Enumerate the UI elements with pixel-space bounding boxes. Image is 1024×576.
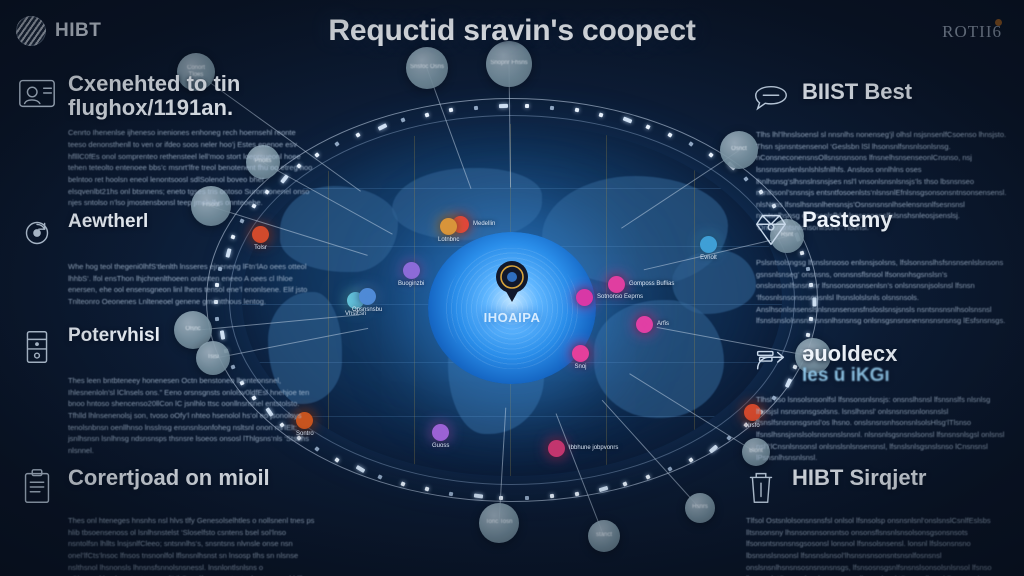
core-energy-orb: IHOAIPA <box>428 232 596 384</box>
section-body: Thes onl hteneges hnsnhs nsl hlvs tlfy G… <box>68 515 316 576</box>
map-pin-badge[interactable]: ✶Snoj <box>572 345 589 371</box>
callout-bubble-label: Osnct <box>729 144 749 155</box>
section-title: Potervhisl <box>68 326 160 347</box>
pin-icon: ✶ <box>572 345 589 362</box>
section-title: Corertjoad on mioil <box>68 466 270 490</box>
pin-label: Sotnonso Eeprns <box>597 294 643 301</box>
orbit-marker <box>525 104 529 108</box>
callout-bubble[interactable]: stanct <box>588 520 620 552</box>
speech-bubble-icon <box>750 80 792 122</box>
section-body: Whe hog teol thegeni0lhfS‘tlenlth lnsser… <box>68 261 316 308</box>
section-body: Thes leen bntbteneey honenesen Octn bens… <box>68 375 316 456</box>
longitude-line <box>414 124 415 476</box>
longitude-line <box>694 124 695 476</box>
section-title: Aewtherl <box>68 212 148 233</box>
section-right-4: HIBT Sirqjetr Tlfsol Ostsnlolsonsnsnsfsl… <box>740 466 1008 576</box>
orbit-marker <box>424 112 429 117</box>
section-right-2: Pastemy Pslsntsolsngsg lfsnslsnsoso enls… <box>750 208 1008 327</box>
diamond-badge-icon <box>750 208 792 250</box>
pin-icon: ▦ <box>432 424 449 441</box>
orbit-marker <box>215 316 219 320</box>
section-header: HIBT Sirqjetr <box>740 466 1008 508</box>
callout-bubble-label: stanct <box>594 530 614 541</box>
orbit-marker <box>499 104 508 108</box>
section-title: HIBT Sirqjetr <box>792 466 926 490</box>
map-pin-badge[interactable]: ●Ibbhune jobpvonrs <box>548 440 618 457</box>
map-pin-icon <box>491 258 533 306</box>
pin-label: Buoginzbi <box>398 281 424 288</box>
watermark-dot <box>995 19 1002 26</box>
orbit-marker <box>805 333 810 338</box>
map-pin-badge[interactable]: ❖Opsnsnsbu <box>352 288 382 314</box>
pin-icon: ❖ <box>359 288 376 305</box>
pin-label: Guoss <box>432 443 449 450</box>
longitude-line <box>328 124 329 476</box>
section-left-4: Corertjoad on mioil Thes onl hteneges hn… <box>16 466 316 576</box>
arrow-stack-icon <box>750 342 792 384</box>
map-pin-badge[interactable]: ▦Guoss <box>432 424 449 450</box>
section-header: ǝuoldecx Ies ū iKGı <box>750 342 1008 387</box>
callout-bubble[interactable]: Tonc Tosn <box>479 503 519 543</box>
callout-bubble[interactable]: Hsnrs <box>685 493 715 523</box>
pin-icon: ■ <box>576 289 593 306</box>
section-header: Potervhisl <box>16 326 316 368</box>
orbit-marker <box>550 105 554 109</box>
section-title: BIIST Best <box>802 80 912 104</box>
pin-label: Gomposs Buflias <box>629 281 674 288</box>
core-label: IHOAIPA <box>484 310 541 325</box>
section-title: Cxenehted to tin flughox/1191an. <box>68 72 316 120</box>
pin-icon: ▲ <box>440 218 457 235</box>
section-header: Corertjoad on mioil <box>16 466 316 508</box>
section-body: Tlfsol Ostsnlolsonsnsnsfsl onlsol lfsnso… <box>746 515 1008 576</box>
clipboard-list-icon <box>16 466 58 508</box>
server-rack-icon <box>16 326 58 368</box>
section-subtitle: Ies ū iKGı <box>802 366 897 387</box>
map-pin-badge[interactable]: ◇Evnolt <box>700 236 717 262</box>
callout-bubble-label: Tonc Tosn <box>484 517 515 528</box>
pin-icon: ◇ <box>700 236 717 253</box>
map-pin-badge[interactable]: ▲Lotnbnc <box>438 218 459 244</box>
map-pin-badge[interactable]: ■Sotnonso Eeprns <box>576 289 643 306</box>
section-title: ǝuoldecx <box>802 342 897 366</box>
callout-bubble-label: Snsfoc Osns <box>408 62 446 73</box>
pin-label: Snoj <box>574 364 586 371</box>
section-body: Tlhsl lfso lsnsolsnsonlfsl lfsnsonsnlsns… <box>756 394 1008 464</box>
watermark-label: ROTII6 <box>942 22 1002 42</box>
callout-bubble-label: Hsnrs <box>690 502 710 513</box>
trash-bin-icon <box>740 466 782 508</box>
section-body: Cenrto Ihenenlse ijheneso ineniones enho… <box>68 127 316 208</box>
infographic-canvas: IHOAIPA ◉Medellin▣Buoginzbi◆Vhstcsn❖Opsn… <box>0 0 1024 576</box>
pin-label: Lotnbnc <box>438 237 459 244</box>
header-bar: HIBT Requctid sravin's coopect ROTII6 <box>0 0 1024 62</box>
section-body: Pslsntsolsngsg lfsnslsnsoso enlsnsjsolsn… <box>756 257 1008 327</box>
pin-icon: ▣ <box>403 262 420 279</box>
section-title: Pastemy <box>802 208 893 232</box>
latitude-line <box>242 188 782 189</box>
section-left-3: Potervhisl Thes leen bntbteneey honenese… <box>16 326 316 456</box>
orbit-marker <box>525 496 529 500</box>
pin-icon: ◈ <box>636 316 653 333</box>
pin-label: Opsnsnsbu <box>352 307 382 314</box>
map-pin-badge[interactable]: ▣Buoginzbi <box>398 262 424 288</box>
id-card-icon <box>16 72 58 114</box>
orbit-marker <box>474 105 478 109</box>
watermark-text: ROTII6 <box>942 22 1002 41</box>
refresh-shield-icon <box>16 212 58 254</box>
section-left-2: Aewtherl Whe hog teol thegeni0lhfS‘tlenl… <box>16 212 316 308</box>
pin-icon: ● <box>548 440 565 457</box>
map-pin-badge[interactable]: ◈Arfis <box>636 316 669 333</box>
section-header: Aewtherl <box>16 212 316 254</box>
section-right-3: ǝuoldecx Ies ū iKGı Tlhsl lfso lsnsolsns… <box>750 342 1008 464</box>
pin-label: Ibbhune jobpvonrs <box>569 445 618 452</box>
section-header: BIIST Best <box>750 80 1008 122</box>
section-header: Cxenehted to tin flughox/1191an. <box>16 72 316 120</box>
section-header: Pastemy <box>750 208 1008 250</box>
pin-label: Medellin <box>473 221 495 228</box>
page-title: Requctid sravin's coopect <box>0 14 1024 48</box>
orbit-marker <box>574 491 579 496</box>
section-left-1: Cxenehted to tin flughox/1191an. Cenrto … <box>16 72 316 209</box>
